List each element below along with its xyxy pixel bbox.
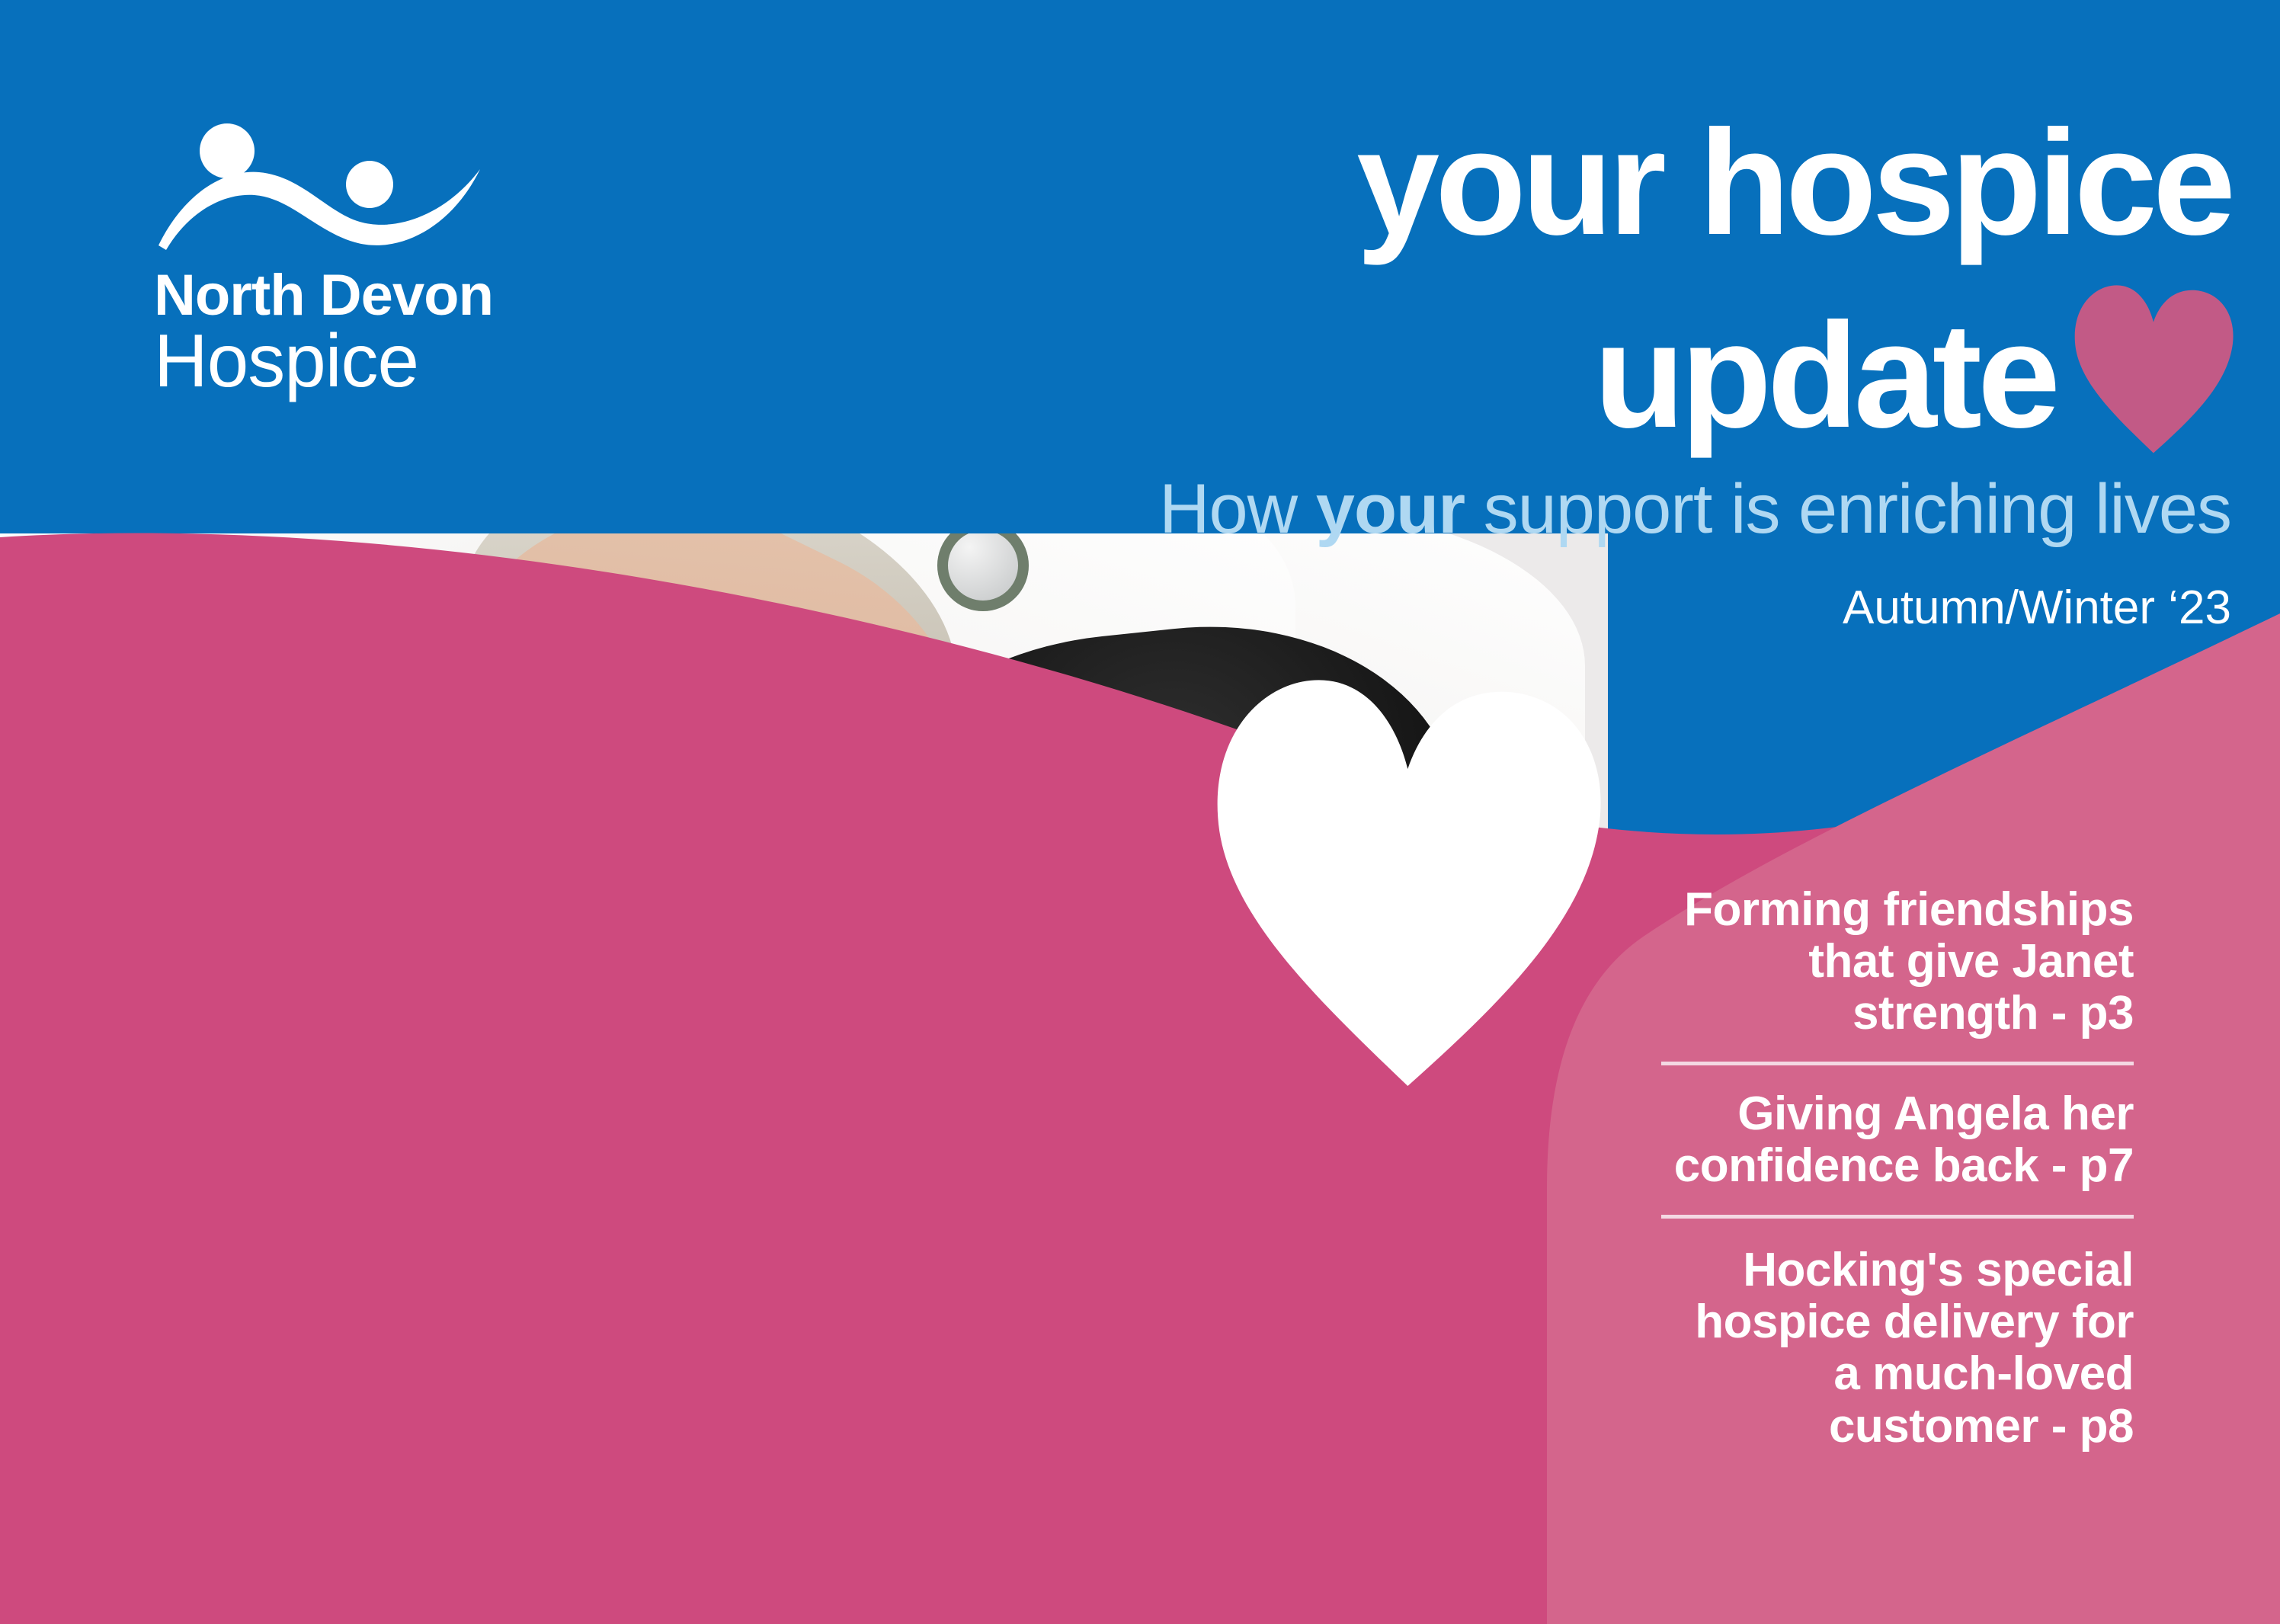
- strapline: How your support is enriching lives: [921, 474, 2231, 544]
- masthead-title-line1: your hospice: [921, 114, 2231, 251]
- north-devon-hospice-logo[interactable]: North Devon Hospice: [152, 122, 518, 396]
- masthead-title-line2-row: update: [921, 251, 2231, 444]
- contents-divider-2: [1661, 1215, 2134, 1219]
- contents-divider-1: [1661, 1062, 2134, 1065]
- magazine-cover: PETS AS THERAPY North Devon Hospice: [0, 0, 2280, 1624]
- two-figures-wave-icon: [152, 122, 511, 255]
- issue-date: Autumn/Winter ‘23: [921, 581, 2231, 635]
- contents-item-2[interactable]: Giving Angela her confidence back - p7: [1661, 1088, 2134, 1192]
- logo-line-hospice: Hospice: [154, 323, 520, 399]
- strapline-after: support is enriching lives: [1465, 470, 2231, 548]
- contents-item-1[interactable]: Forming friendships that give Janet stre…: [1661, 884, 2134, 1040]
- logo-wordmark: North Devon Hospice: [154, 267, 520, 399]
- pink-heart-icon: [2067, 282, 2242, 457]
- masthead: your hospice update How your support is …: [921, 114, 2231, 635]
- masthead-title-line2: update: [1594, 307, 2056, 444]
- white-heart-icon: [1208, 671, 1612, 1097]
- strapline-bold: your: [1316, 470, 1465, 548]
- contents-list: Forming friendships that give Janet stre…: [1661, 884, 2134, 1453]
- contents-item-3[interactable]: Hocking's special hospice delivery for a…: [1661, 1244, 2134, 1453]
- logo-line-north-devon: North Devon: [154, 267, 520, 325]
- strapline-before: How: [1159, 470, 1316, 548]
